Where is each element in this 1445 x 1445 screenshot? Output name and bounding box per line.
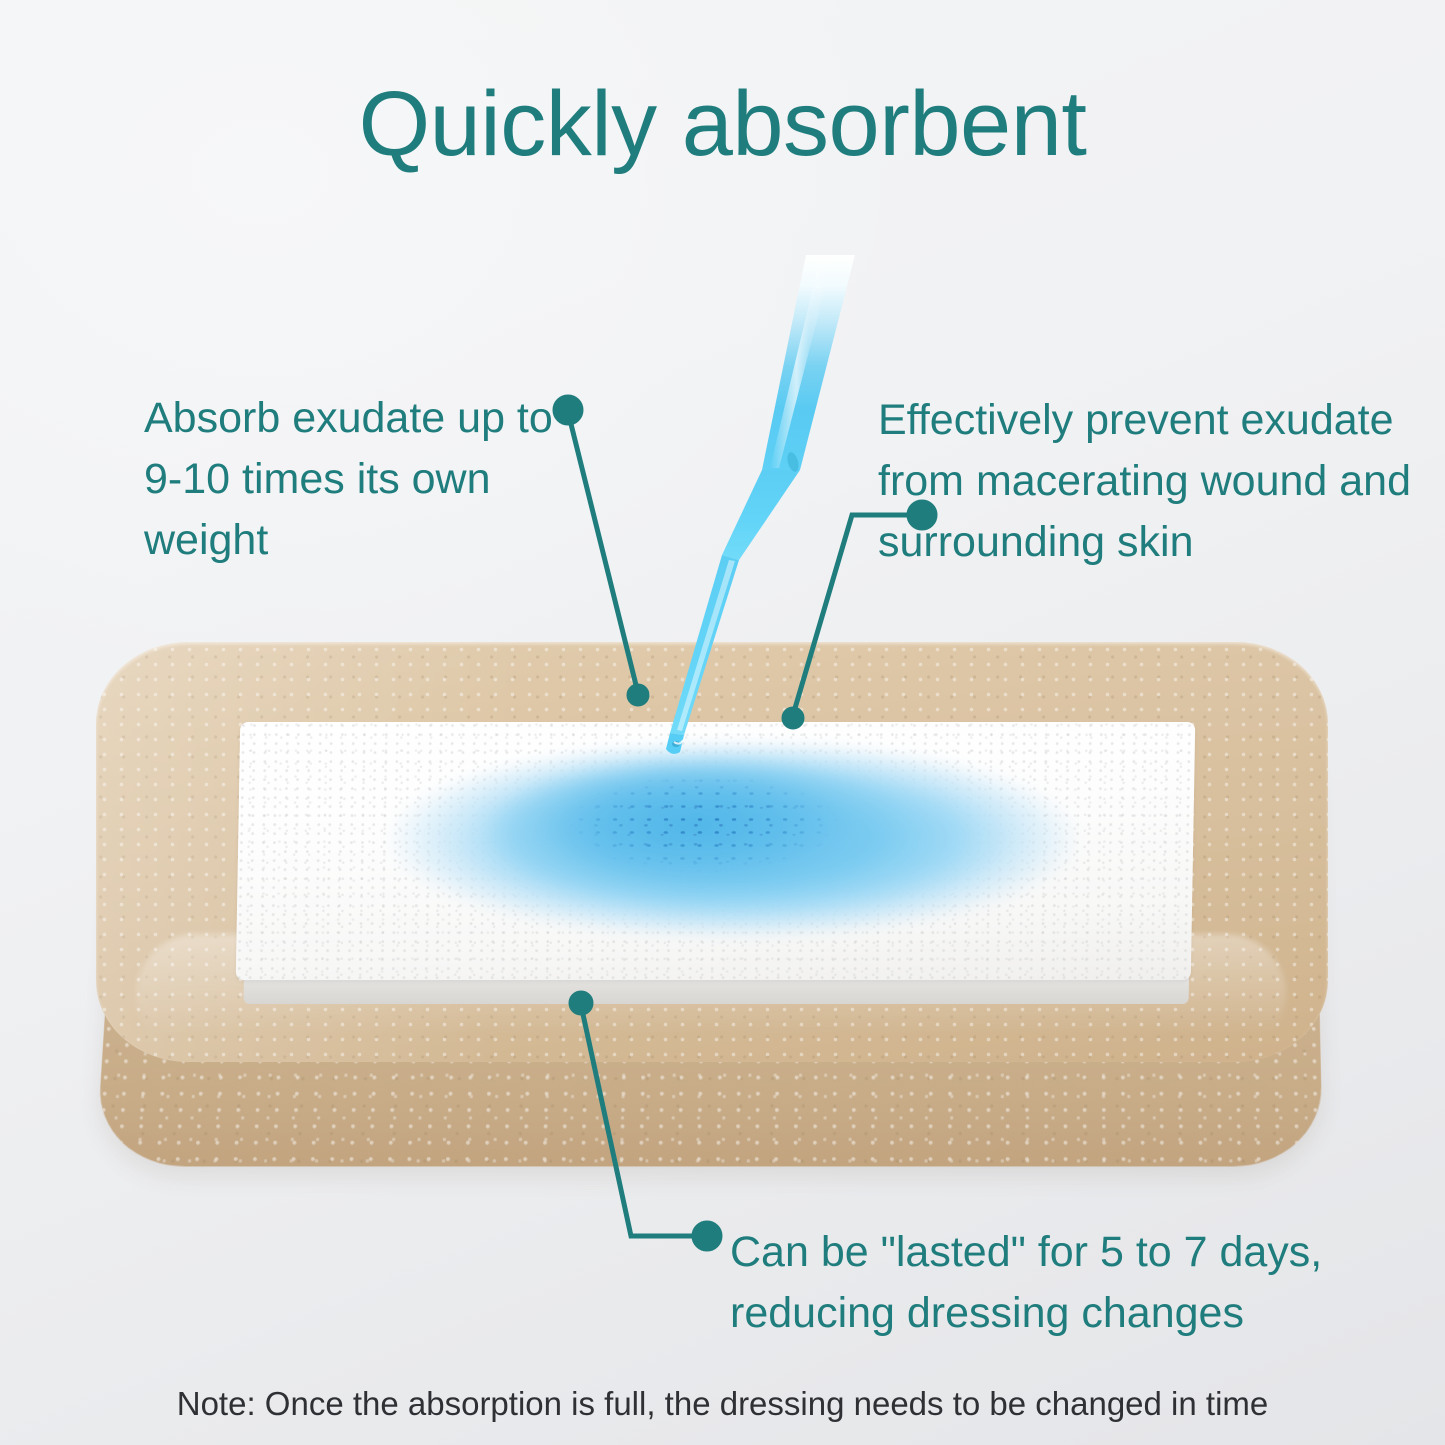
- callout-label-wear-time: Can be "lasted" for 5 to 7 days, reducin…: [730, 1222, 1390, 1344]
- wound-dressing-illustration: [88, 642, 1336, 1172]
- footer-note: Note: Once the absorption is full, the d…: [0, 1385, 1445, 1423]
- exudate-droplets: [537, 774, 869, 884]
- illustration-canvas: Quickly absorbent: [0, 0, 1445, 1445]
- foam-pad: [238, 722, 1193, 1042]
- callout-label-prevent-maceration: Effectively prevent exudate from macerat…: [878, 390, 1438, 573]
- foam-pad-top-face: [236, 722, 1196, 980]
- page-title: Quickly absorbent: [0, 78, 1445, 170]
- callout-label-absorb-capacity: Absorb exudate up to 9-10 times its own …: [144, 388, 574, 571]
